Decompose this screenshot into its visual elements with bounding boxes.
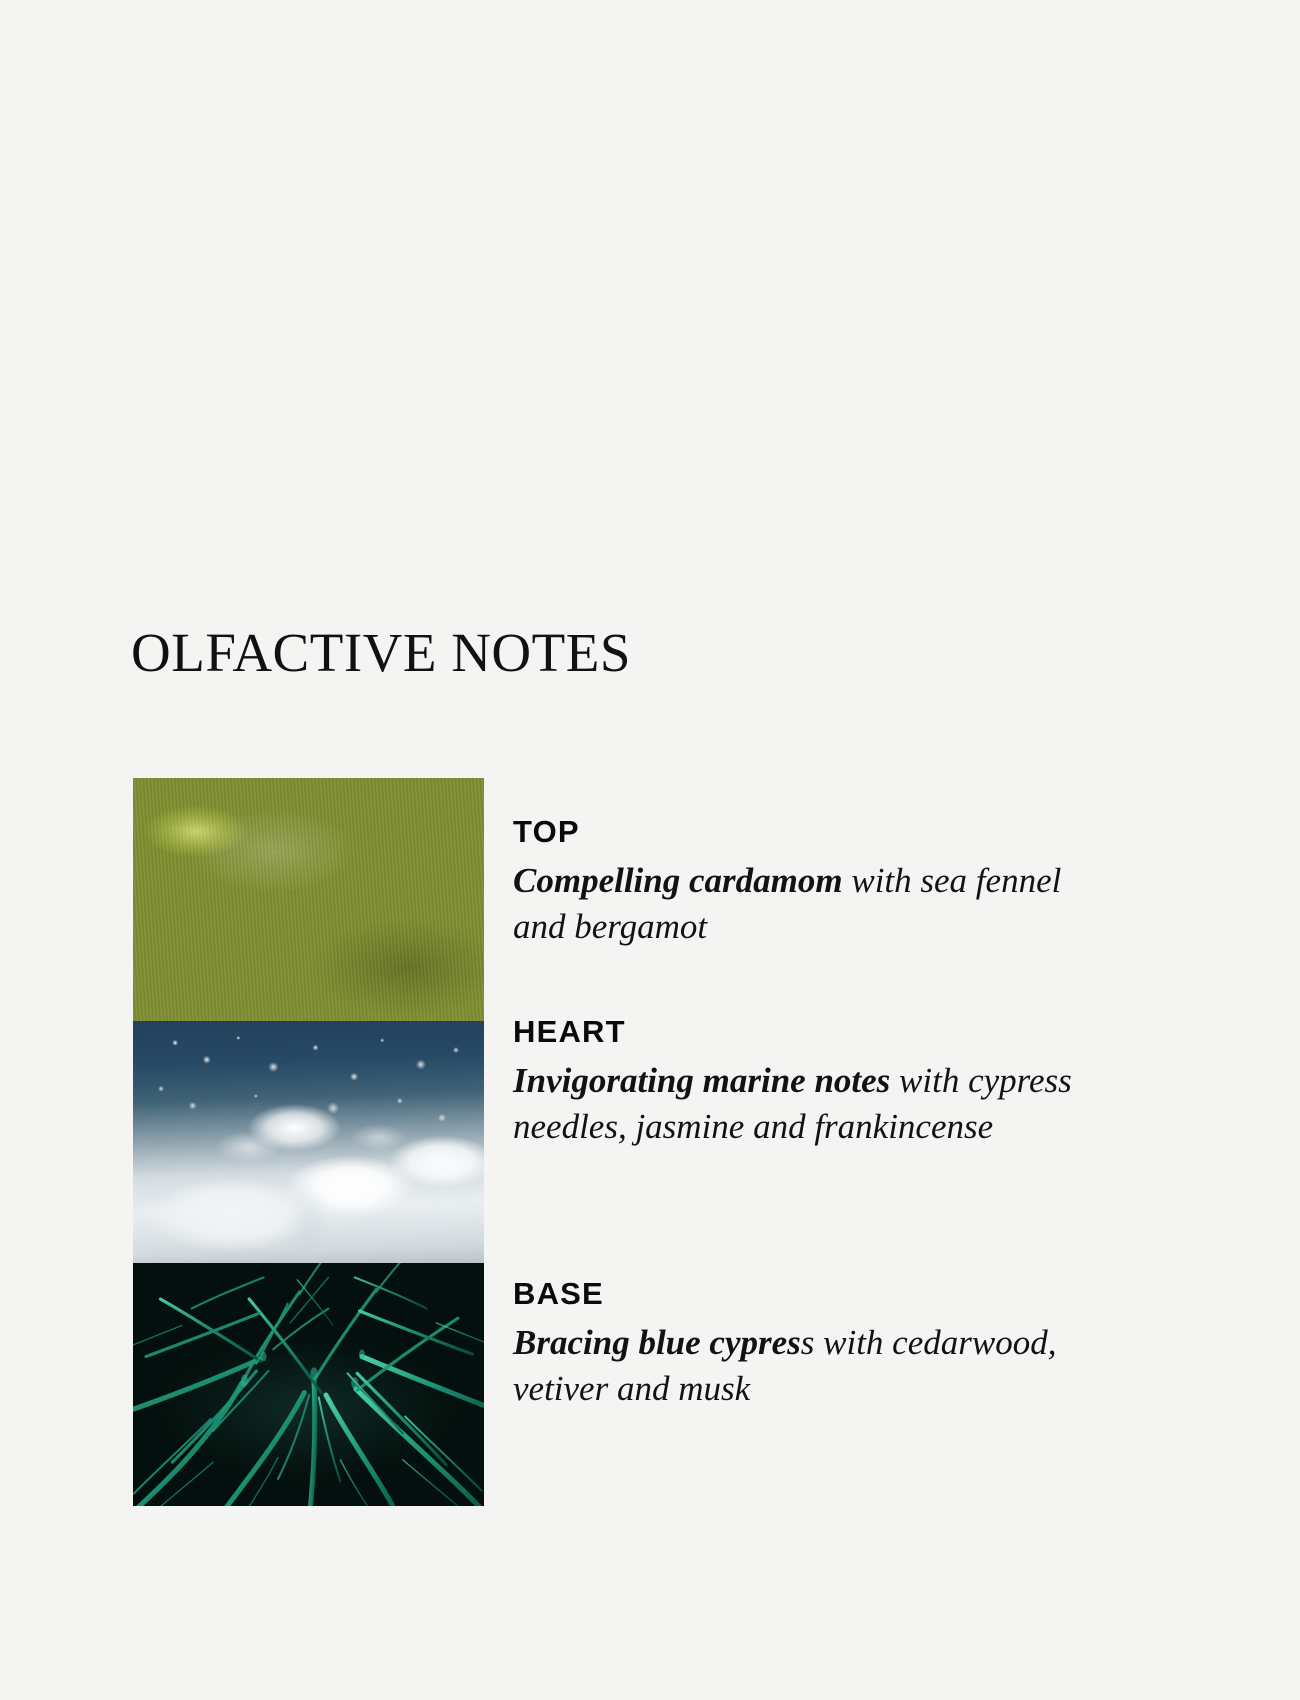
note-label-base: BASE	[513, 1278, 1113, 1309]
note-image-column	[133, 778, 484, 1506]
note-group-base: BASE Bracing blue cypress with cedarwood…	[513, 1278, 1113, 1411]
page-title: OLFACTIVE NOTES	[131, 625, 631, 680]
note-description-top: Compelling cardamom with sea fennel and …	[513, 858, 1093, 949]
note-lead-top: Compelling cardamom	[513, 861, 843, 900]
note-lead-heart: Invigorating marine notes	[513, 1061, 890, 1100]
note-group-heart: HEART Invigorating marine notes with cyp…	[513, 1016, 1113, 1149]
note-image-base	[133, 1263, 484, 1506]
sea-splash-photo	[133, 1021, 484, 1264]
note-description-base: Bracing blue cypress with cedarwood, vet…	[513, 1320, 1093, 1411]
note-label-heart: HEART	[513, 1016, 1113, 1047]
cypress-needles-photo	[133, 1263, 484, 1506]
note-label-top: TOP	[513, 816, 1113, 847]
cypress-frond-shapes	[133, 1263, 484, 1506]
cardamom-pods-photo	[133, 778, 484, 1021]
note-image-top	[133, 778, 484, 1021]
olfactive-notes-page: OLFACTIVE NOTES	[0, 0, 1300, 1700]
olfactive-notes-block: TOP Compelling cardamom with sea fennel …	[0, 778, 1300, 1508]
note-image-heart	[133, 1021, 484, 1264]
note-lead-base: Bracing blue cypres	[513, 1323, 801, 1362]
note-description-heart: Invigorating marine notes with cypress n…	[513, 1058, 1093, 1149]
note-group-top: TOP Compelling cardamom with sea fennel …	[513, 816, 1113, 949]
